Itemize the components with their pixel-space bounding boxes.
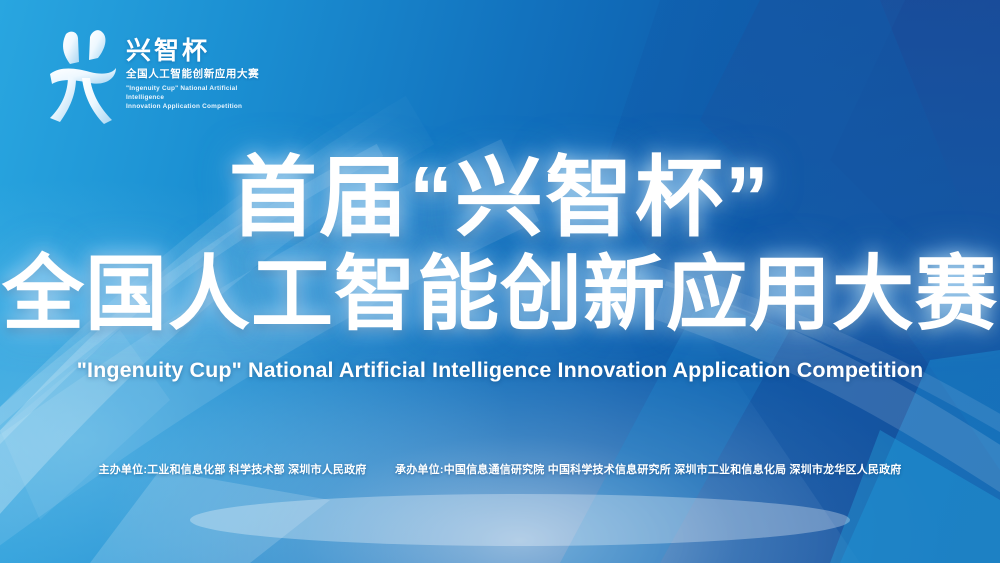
title-line-1: 首届“兴智杯” [0, 150, 1000, 245]
host-list: 工业和信息化部 科学技术部 深圳市人民政府 [147, 464, 366, 476]
bottom-glow [190, 494, 850, 546]
organizers-line: 主办单位:工业和信息化部 科学技术部 深圳市人民政府 承办单位:中国信息通信研究… [0, 461, 1000, 477]
event-banner: 兴智杯 全国人工智能创新应用大赛 "Ingenuity Cup" Nationa… [0, 0, 1000, 563]
xing-character-logo-mark [46, 28, 118, 124]
logo-subtitle-en-line1: "Ingenuity Cup" National Artificial Inte… [126, 84, 271, 103]
coorganizer-list: 中国信息通信研究院 中国科学技术信息研究所 深圳市工业和信息化局 深圳市龙华区人… [444, 464, 902, 476]
competition-logo[interactable]: 兴智杯 全国人工智能创新应用大赛 "Ingenuity Cup" Nationa… [46, 28, 271, 124]
logo-subtitle-en: "Ingenuity Cup" National Artificial Inte… [126, 84, 271, 112]
title-english: "Ingenuity Cup" National Artificial Inte… [0, 358, 1000, 384]
banner-title-block: 首届“兴智杯” 全国人工智能创新应用大赛 "Ingenuity Cup" Nat… [0, 150, 1000, 383]
title-line-2: 全国人工智能创新应用大赛 [0, 251, 1000, 340]
logo-subtitle-en-line2: Innovation Application Competition [126, 102, 271, 111]
host-label: 主办单位: [99, 464, 148, 476]
logo-subtitle-cn: 全国人工智能创新应用大赛 [126, 68, 271, 81]
logo-brand-cn: 兴智杯 [126, 38, 271, 64]
coorganizer-label: 承办单位: [395, 464, 444, 476]
